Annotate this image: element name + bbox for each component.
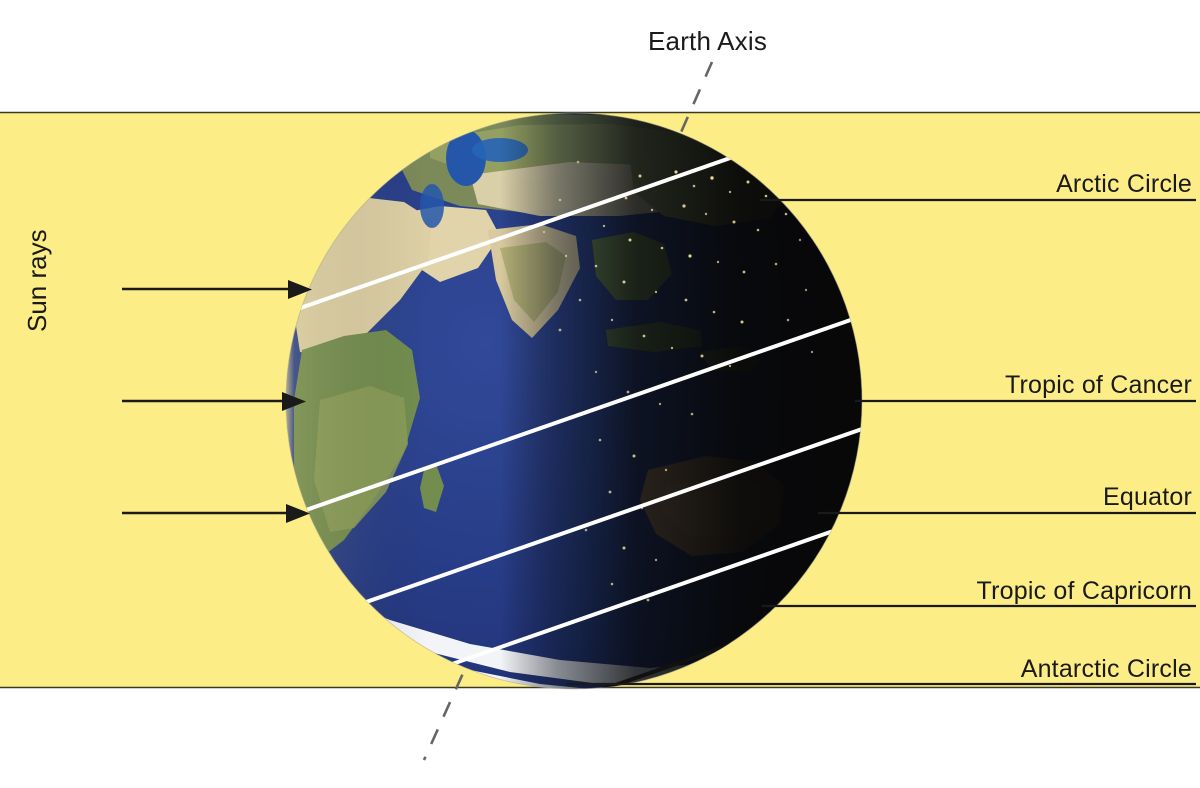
arctic-circle-label: Arctic Circle — [1056, 170, 1192, 199]
earth-illumination-diagram: Sun rays Earth Axis Arctic Circle Tropic… — [0, 0, 1200, 788]
antarctic-circle-label: Antarctic Circle — [1021, 655, 1192, 684]
sun-rays-label: Sun rays — [22, 172, 53, 332]
tropic-of-capricorn-label: Tropic of Capricorn — [977, 577, 1192, 606]
earth-axis-label: Earth Axis — [648, 26, 767, 57]
equator-label: Equator — [1103, 483, 1192, 512]
tropic-of-cancer-label: Tropic of Cancer — [1005, 371, 1192, 400]
